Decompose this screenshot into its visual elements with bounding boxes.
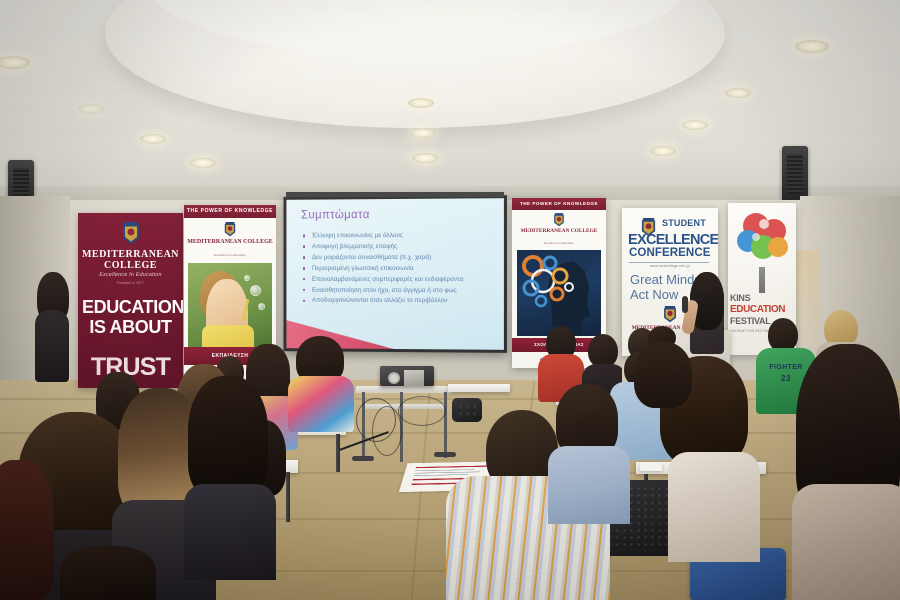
desk-leg bbox=[336, 434, 340, 472]
ceiling-vent-icon bbox=[78, 104, 104, 114]
bubble-icon bbox=[250, 285, 261, 296]
downlight-icon bbox=[410, 128, 436, 138]
slide-bullet-list: Έλλειψη επικοινωνίας με άλλους Αποφυγή β… bbox=[302, 231, 496, 308]
slide-title: Συμπτώματα bbox=[301, 209, 370, 221]
festival-line-1: KINS bbox=[730, 293, 794, 303]
downlight-icon bbox=[412, 153, 438, 163]
bubble-icon bbox=[244, 275, 250, 281]
downlight-icon bbox=[140, 134, 166, 144]
projector-lens-icon bbox=[388, 372, 400, 384]
downlight-icon bbox=[650, 146, 676, 156]
slide-bullet: Επαναλαμβανόμενες συμπεριφορές και ενδια… bbox=[302, 275, 496, 285]
festival-line-2: EDUCATION bbox=[730, 304, 794, 315]
college-crest-icon bbox=[663, 306, 678, 323]
conference-slogan-line-2: Act Now bbox=[630, 287, 678, 302]
slide-bullet: Ευαισθητοποίηση στον ήχο, στο άγγιγμα ή … bbox=[302, 285, 496, 295]
slide-bullet: Αποδιοργανώνονται όταν αλλάζει το περιβά… bbox=[302, 296, 496, 306]
head bbox=[588, 334, 618, 368]
hair bbox=[60, 546, 156, 600]
torso bbox=[792, 484, 900, 600]
torso bbox=[668, 452, 760, 562]
downlight-icon bbox=[795, 40, 829, 53]
conference-url: www.medcollege.edu.gr bbox=[622, 264, 718, 268]
bubble-icon bbox=[258, 303, 265, 310]
head bbox=[768, 318, 798, 352]
banner-header-text: THE POWER OF KNOWLEDGE bbox=[512, 198, 606, 210]
screen-mount bbox=[286, 192, 504, 197]
desk bbox=[448, 384, 510, 392]
desk-leg bbox=[286, 472, 290, 522]
presentation-slide: Συμπτώματα Έλλειψη επικοινωνίας με άλλου… bbox=[286, 198, 503, 350]
slogan-line-1: EDUCATION bbox=[82, 297, 183, 317]
gears-icon bbox=[519, 254, 579, 314]
banner-header-bar: THE POWER OF KNOWLEDGE bbox=[184, 205, 276, 218]
projection-screen: Συμπτώματα Έλλειψη επικοινωνίας με άλλου… bbox=[284, 195, 507, 353]
banner-college-name: MEDITERRANEAN COLLEGE bbox=[78, 249, 183, 271]
college-crest-icon bbox=[224, 222, 237, 237]
lecture-hall-photo: Συμπτώματα Έλλειψη επικοινωνίας με άλλου… bbox=[0, 0, 900, 600]
slogan-line-2: IS ABOUT bbox=[89, 317, 171, 337]
caster-wheel bbox=[434, 452, 456, 457]
standing-attendee-left bbox=[30, 272, 76, 382]
caster-wheel bbox=[352, 456, 374, 461]
college-crest-icon bbox=[121, 222, 141, 245]
chair bbox=[452, 398, 482, 422]
college-crest-icon bbox=[553, 213, 565, 227]
projector-side-unit bbox=[404, 370, 424, 386]
cart-leg bbox=[444, 392, 447, 458]
slide-bullet: Δεν μοιράζονται συναισθήματα (π.χ. χαρά) bbox=[302, 253, 496, 263]
downlight-icon bbox=[725, 88, 751, 98]
banner-header-text: THE POWER OF KNOWLEDGE bbox=[184, 205, 276, 218]
microphone-icon bbox=[682, 296, 688, 313]
conference-student-label: STUDENT bbox=[662, 218, 706, 228]
banner-founded: Founded in 1977 bbox=[78, 281, 183, 285]
banner-photo-child-blowing-bubbles bbox=[188, 263, 272, 351]
tree-logo-icon bbox=[736, 211, 790, 273]
banner-college-name: MEDITERRANEAN COLLEGE bbox=[184, 239, 276, 246]
banner-tagline: Excellence In Education bbox=[78, 272, 183, 278]
torso bbox=[35, 310, 69, 382]
banner-artwork-head-with-gears bbox=[517, 250, 601, 336]
banner-tagline: Excellence In Education bbox=[184, 253, 276, 257]
downlight-icon bbox=[408, 98, 434, 108]
banner-header-bar: THE POWER OF KNOWLEDGE bbox=[512, 198, 606, 210]
banner-slogan: EDUCATION IS ABOUT bbox=[82, 297, 179, 337]
divider bbox=[629, 262, 709, 263]
banner-college-name: MEDITERRANEAN COLLEGE bbox=[512, 228, 606, 234]
torso bbox=[184, 484, 276, 580]
conference-conference-label: CONFERENCE bbox=[629, 247, 714, 259]
downlight-icon bbox=[190, 158, 216, 168]
wall-speaker-icon bbox=[782, 146, 808, 202]
torso bbox=[548, 446, 630, 524]
slide-bullet: Περιορισμένη γλωσσική επικοινωνία bbox=[302, 264, 496, 274]
banner-tagline: Excellence In Education bbox=[512, 241, 606, 245]
slide-bullet: Έλλειψη επικοινωνίας με άλλους bbox=[302, 231, 496, 241]
cable bbox=[398, 396, 446, 426]
downlight-icon bbox=[682, 120, 708, 130]
hair bbox=[188, 376, 268, 498]
paper-sheet bbox=[640, 462, 662, 471]
torso-floral bbox=[288, 376, 354, 432]
hair bbox=[0, 460, 54, 600]
conference-slogan-line-1: Great Minds bbox=[630, 272, 701, 287]
conference-excellence-label: EXCELLENCE bbox=[628, 232, 714, 248]
ceiling bbox=[0, 0, 900, 205]
av-cart-top bbox=[356, 386, 452, 393]
slide-bullet: Αποφυγή βλεμματικής επαφής bbox=[302, 242, 496, 252]
downlight-icon bbox=[0, 56, 30, 69]
tree-trunk-icon bbox=[759, 267, 765, 293]
banner-education-is-about-trust: MEDITERRANEAN COLLEGE Excellence In Educ… bbox=[78, 213, 183, 388]
hair bbox=[634, 342, 692, 408]
